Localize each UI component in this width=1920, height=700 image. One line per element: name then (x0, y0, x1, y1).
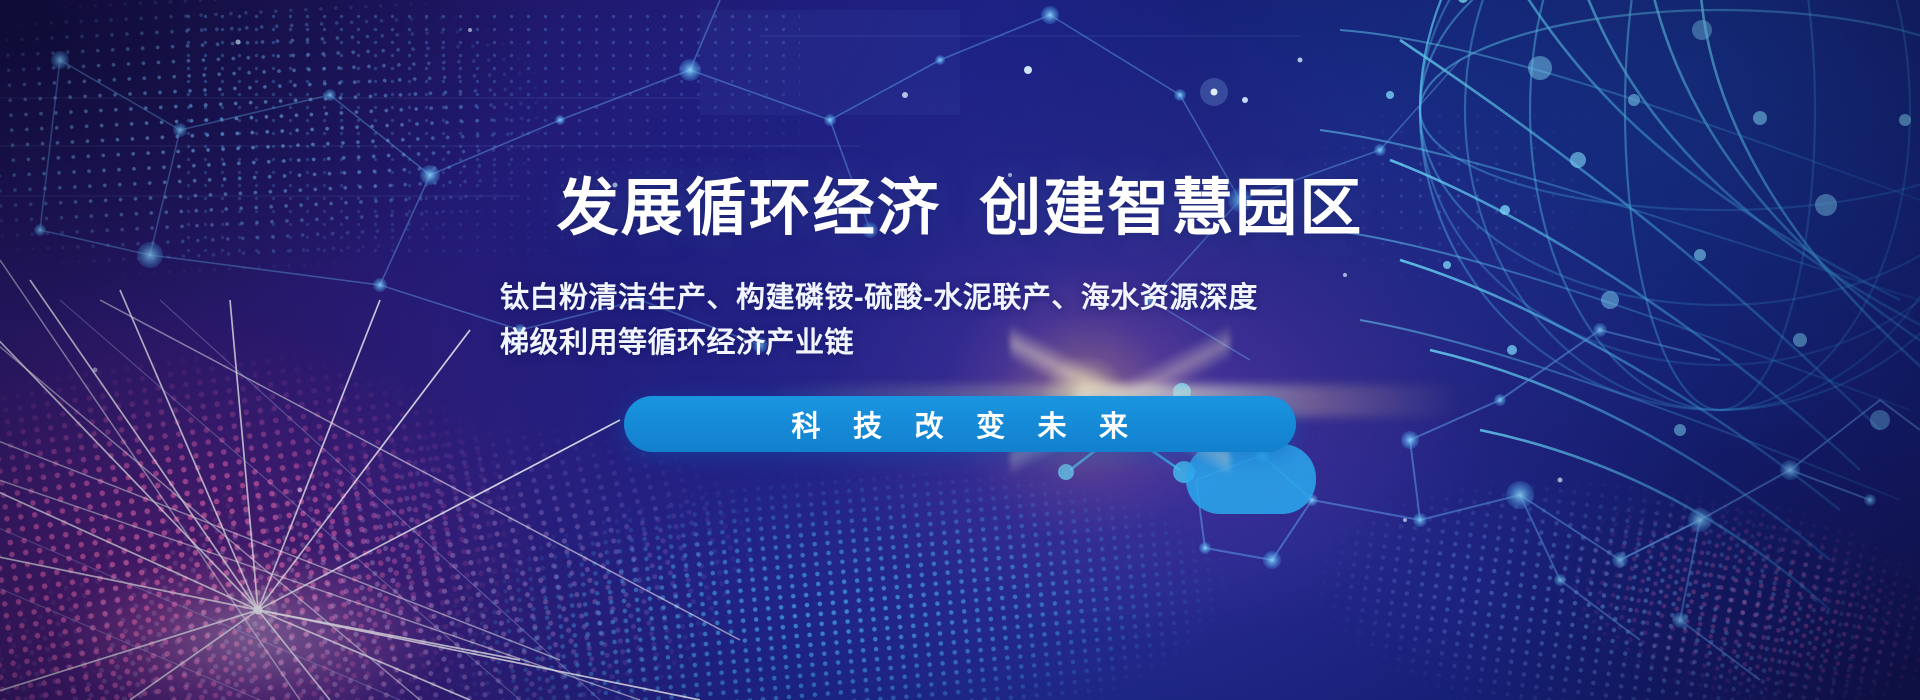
subtitle-line-2: 梯级利用等循环经济产业链 (500, 321, 1420, 366)
banner-content: 发展循环经济 创建智慧园区 钛白粉清洁生产、构建磷铵-硫酸-水泥联产、海水资源深… (0, 0, 1920, 700)
cta-char-5: 未 (1022, 403, 1084, 445)
subtitle-line-1: 钛白粉清洁生产、构建磷铵-硫酸-水泥联产、海水资源深度 (500, 276, 1420, 321)
cta-button[interactable]: 科 技 改 变 未 来 (624, 396, 1296, 452)
hero-banner: 发展循环经济 创建智慧园区 钛白粉清洁生产、构建磷铵-硫酸-水泥联产、海水资源深… (0, 0, 1920, 700)
cta-char-6: 来 (1083, 403, 1145, 445)
cta-char-3: 改 (898, 403, 960, 445)
cta-char-2: 技 (837, 403, 899, 445)
cta-char-1: 科 (775, 403, 837, 445)
cta-char-4: 变 (960, 403, 1022, 445)
banner-headline: 发展循环经济 创建智慧园区 (557, 178, 1363, 240)
banner-subtitle: 钛白粉清洁生产、构建磷铵-硫酸-水泥联产、海水资源深度 梯级利用等循环经济产业链 (500, 276, 1420, 366)
